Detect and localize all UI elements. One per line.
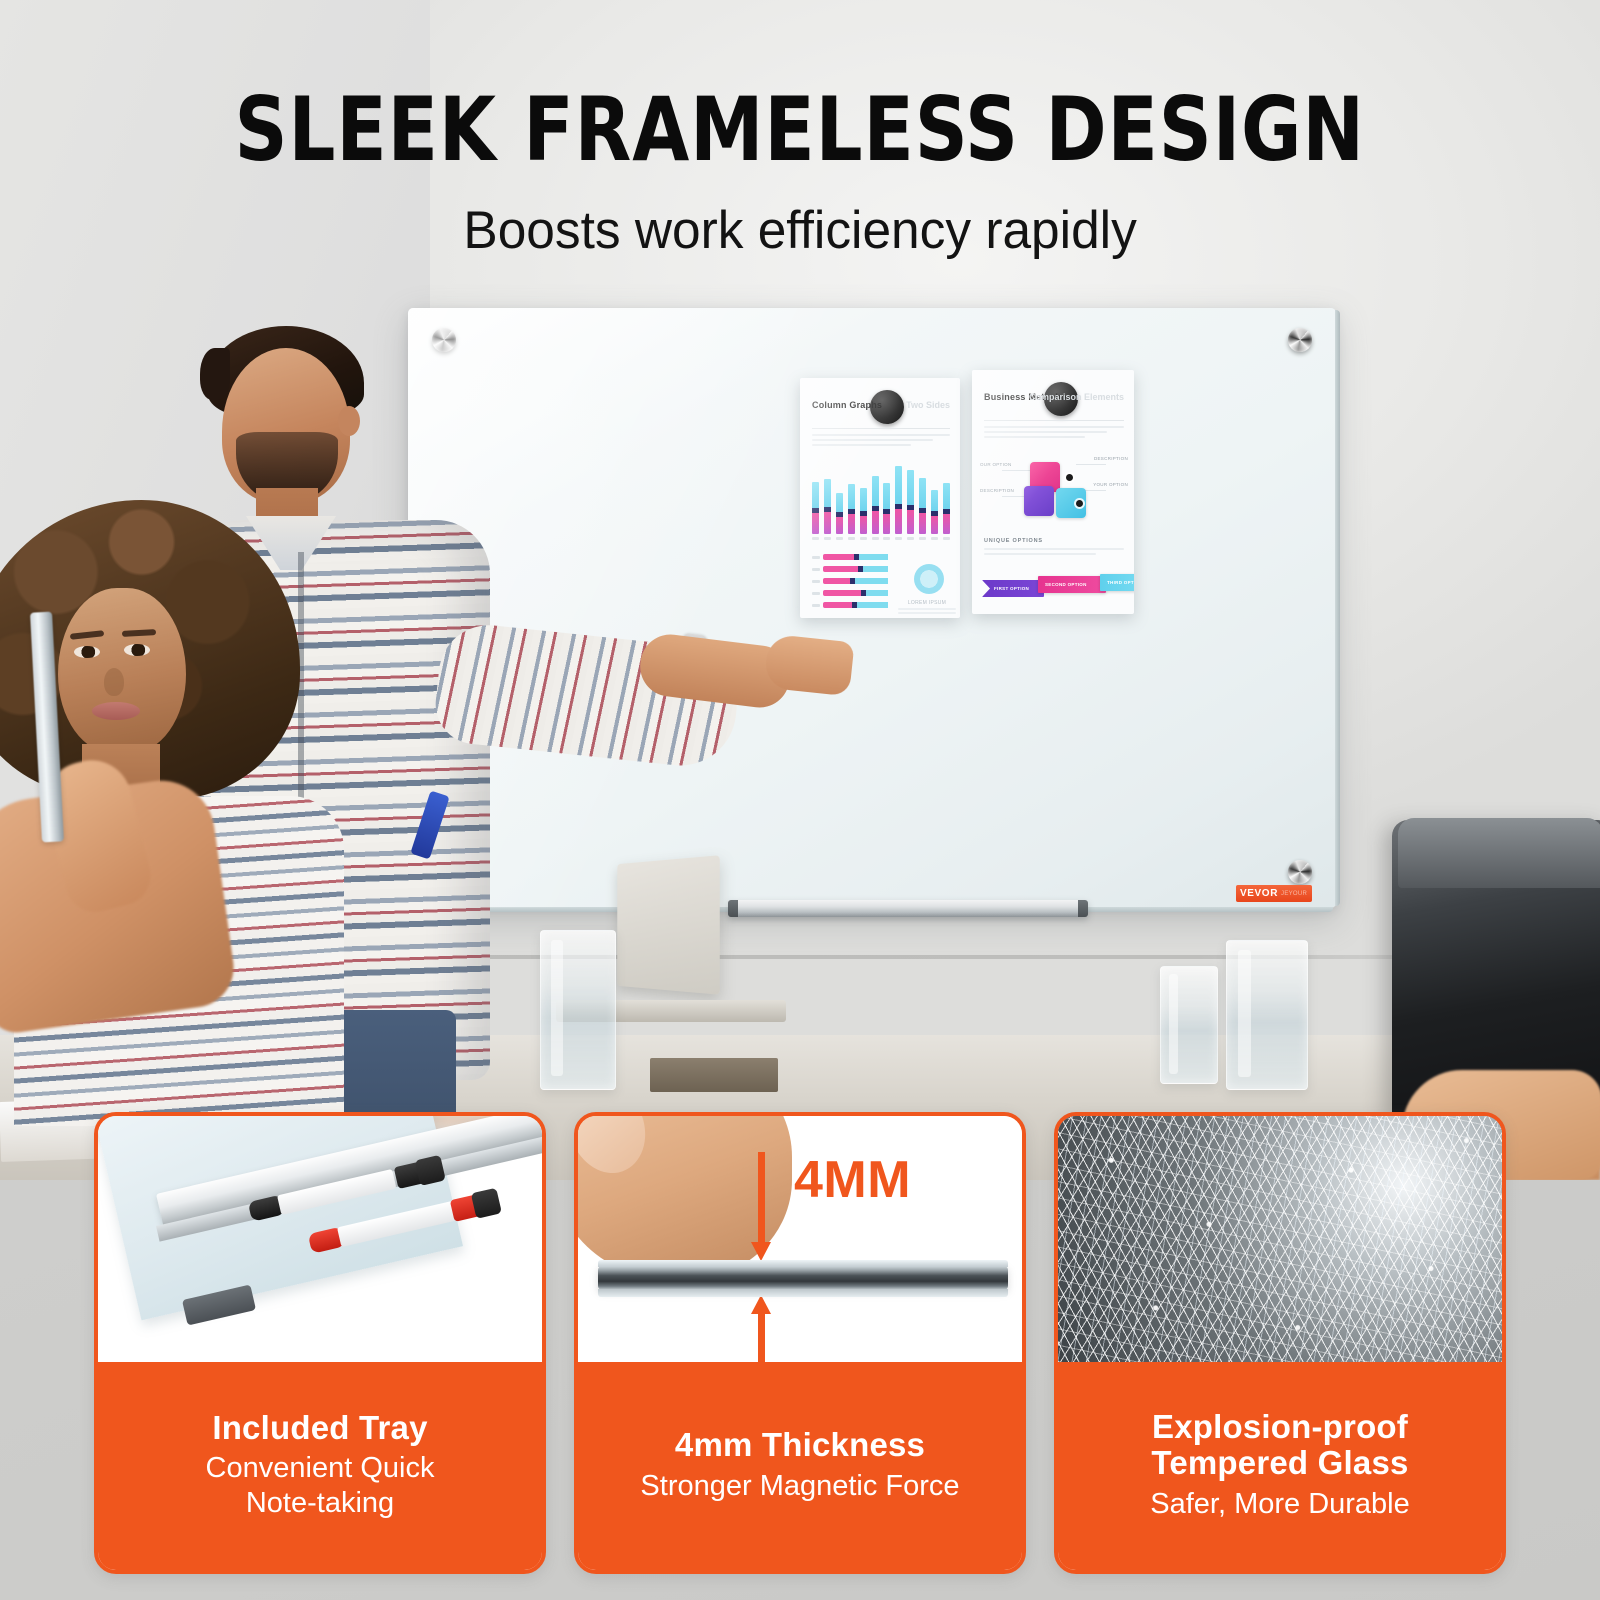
product-feature-image: SLEEK FRAMELESS DESIGN Boosts work effic… (0, 0, 1600, 1600)
arrow-down-icon (758, 1152, 765, 1244)
legend-row (812, 578, 890, 584)
callout-leader (1002, 496, 1024, 497)
poster-subtitle: Two Sides (906, 400, 950, 410)
chart-bar (883, 483, 890, 534)
poster-callout: OUR OPTION (980, 462, 1012, 467)
card-media-shattered-glass (1058, 1116, 1502, 1362)
card-subtitle-line2: Note-taking (246, 1486, 394, 1520)
card-title: Included Tray (212, 1410, 427, 1446)
callout-leader (1002, 470, 1030, 471)
caption-lines (898, 608, 956, 616)
card-title-line1: Explosion-proof (1152, 1409, 1408, 1445)
vevor-wordmark: VEVOR (1236, 888, 1278, 899)
notebook (650, 1058, 778, 1092)
card-title-line2: Tempered Glass (1151, 1445, 1408, 1481)
page-title: SLEEK FRAMELESS DESIGN (235, 86, 1365, 174)
glass-sparkles (1058, 1116, 1502, 1362)
water-glass (540, 930, 616, 1090)
marker-eraser (471, 1188, 502, 1219)
water-glass (1160, 966, 1218, 1084)
poster-title: Column Graphs (812, 400, 882, 410)
page-subtitle: Boosts work efficiency rapidly (463, 200, 1136, 261)
poster-section-lines (984, 548, 1124, 558)
poster-bar-chart (812, 466, 950, 544)
ribbon-second-option: SECOND OPTION (1038, 576, 1106, 593)
standoff-mount-icon (1288, 328, 1312, 352)
fingernail (578, 1116, 658, 1184)
colleague-eye (124, 644, 150, 656)
card-caption: 4mm Thickness Stronger Magnetic Force (578, 1362, 1022, 1570)
colleague-face (58, 588, 186, 754)
poster-rule (812, 428, 950, 429)
magnet-icon (1044, 382, 1078, 416)
poster-body-lines (812, 434, 950, 449)
card-caption: Explosion-proof Tempered Glass Safer, Mo… (1058, 1362, 1502, 1570)
feature-card-thickness: 4MM 4mm Thickness Stronger Magnetic Forc… (574, 1112, 1026, 1574)
poster-body-lines (984, 426, 1124, 441)
card-subtitle-line1: Stronger Magnetic Force (640, 1469, 959, 1503)
glass-edge-profile (598, 1266, 1008, 1290)
poster-rule (984, 420, 1124, 421)
feature-card-included-tray: Included Tray Convenient Quick Note-taki… (94, 1112, 546, 1574)
pen-tray (728, 900, 1088, 917)
colleague-lips (92, 702, 140, 720)
card-subtitle-line1: Safer, More Durable (1150, 1487, 1410, 1521)
legend-row (812, 554, 890, 560)
chart-bar (836, 493, 843, 534)
puzzle-piece-pink (1030, 462, 1060, 492)
legend-row (812, 566, 890, 572)
puzzle-node-dot (1076, 500, 1083, 507)
poster-ribbons: FIRST OPTION SECOND OPTION THIRD OPTION (982, 574, 1128, 600)
card-subtitle-line1: Convenient Quick (206, 1451, 435, 1485)
chart-bar (907, 470, 914, 534)
chart-axis-ticks (812, 537, 950, 540)
card-media-thickness: 4MM (578, 1116, 1022, 1362)
chart-bar (860, 488, 867, 534)
chart-bar (895, 466, 902, 534)
poster-title: Business Metaphor (984, 392, 1070, 402)
puzzle-piece-violet (1024, 486, 1054, 516)
magnet-icon (870, 390, 904, 424)
feature-cards: Included Tray Convenient Quick Note-taki… (0, 1112, 1600, 1600)
arrow-up-icon (758, 1312, 765, 1362)
ribbon-first-option: FIRST OPTION (982, 580, 1044, 597)
card-media-tray (98, 1116, 542, 1362)
donut-chart-icon (914, 564, 944, 594)
office-chair-headrest (1398, 818, 1600, 888)
legend-row (812, 602, 890, 608)
legend-row (812, 590, 890, 596)
colleague-nose (104, 668, 124, 696)
chart-caption: LOREM IPSUM (898, 600, 956, 606)
tray-end-cap (1078, 900, 1088, 917)
chart-bar (848, 484, 855, 534)
standoff-mount-icon (1288, 860, 1312, 884)
puzzle-piece-cyan (1056, 488, 1086, 518)
chart-legend (812, 554, 890, 614)
colleague-eye (74, 646, 100, 658)
chart-bar (812, 482, 819, 534)
chart-bar (931, 490, 938, 534)
presenter-ear (338, 406, 360, 436)
vevor-subwordmark: JEYOUR (1278, 891, 1307, 897)
water-glass (1226, 940, 1308, 1090)
chart-bars (812, 466, 950, 534)
callout-leader (1076, 464, 1106, 465)
ribbon-third-option: THIRD OPTION (1100, 574, 1134, 591)
header: SLEEK FRAMELESS DESIGN Boosts work effic… (0, 0, 1600, 300)
puzzle-pieces-icon (1020, 462, 1096, 524)
poster-section-label: UNIQUE OPTIONS (984, 538, 1043, 544)
chart-bar (919, 478, 926, 534)
callout-leader (1082, 490, 1106, 491)
poster-column-graphs: Column Graphs Two Sides (800, 378, 960, 618)
thickness-annotation: 4MM (794, 1150, 911, 1210)
card-title: 4mm Thickness (675, 1427, 925, 1463)
chart-bar (943, 483, 950, 534)
feature-card-tempered-glass: Explosion-proof Tempered Glass Safer, Mo… (1054, 1112, 1506, 1574)
board-edge-right (1335, 310, 1340, 906)
vevor-brand-badge: VEVOR JEYOUR (1236, 885, 1312, 902)
card-caption: Included Tray Convenient Quick Note-taki… (98, 1362, 542, 1570)
poster-callout: DESCRIPTION (980, 488, 1014, 493)
poster-callout: DESCRIPTION (1094, 456, 1128, 461)
poster-business-metaphor: Business Metaphor Comparison Elements OU… (972, 370, 1134, 614)
puzzle-node-dot (1066, 474, 1073, 481)
chart-bar (872, 476, 879, 534)
chart-bar (824, 479, 831, 534)
poster-subtitle: Comparison Elements (1029, 392, 1124, 402)
poster-callout: YOUR OPTION (1093, 482, 1128, 487)
